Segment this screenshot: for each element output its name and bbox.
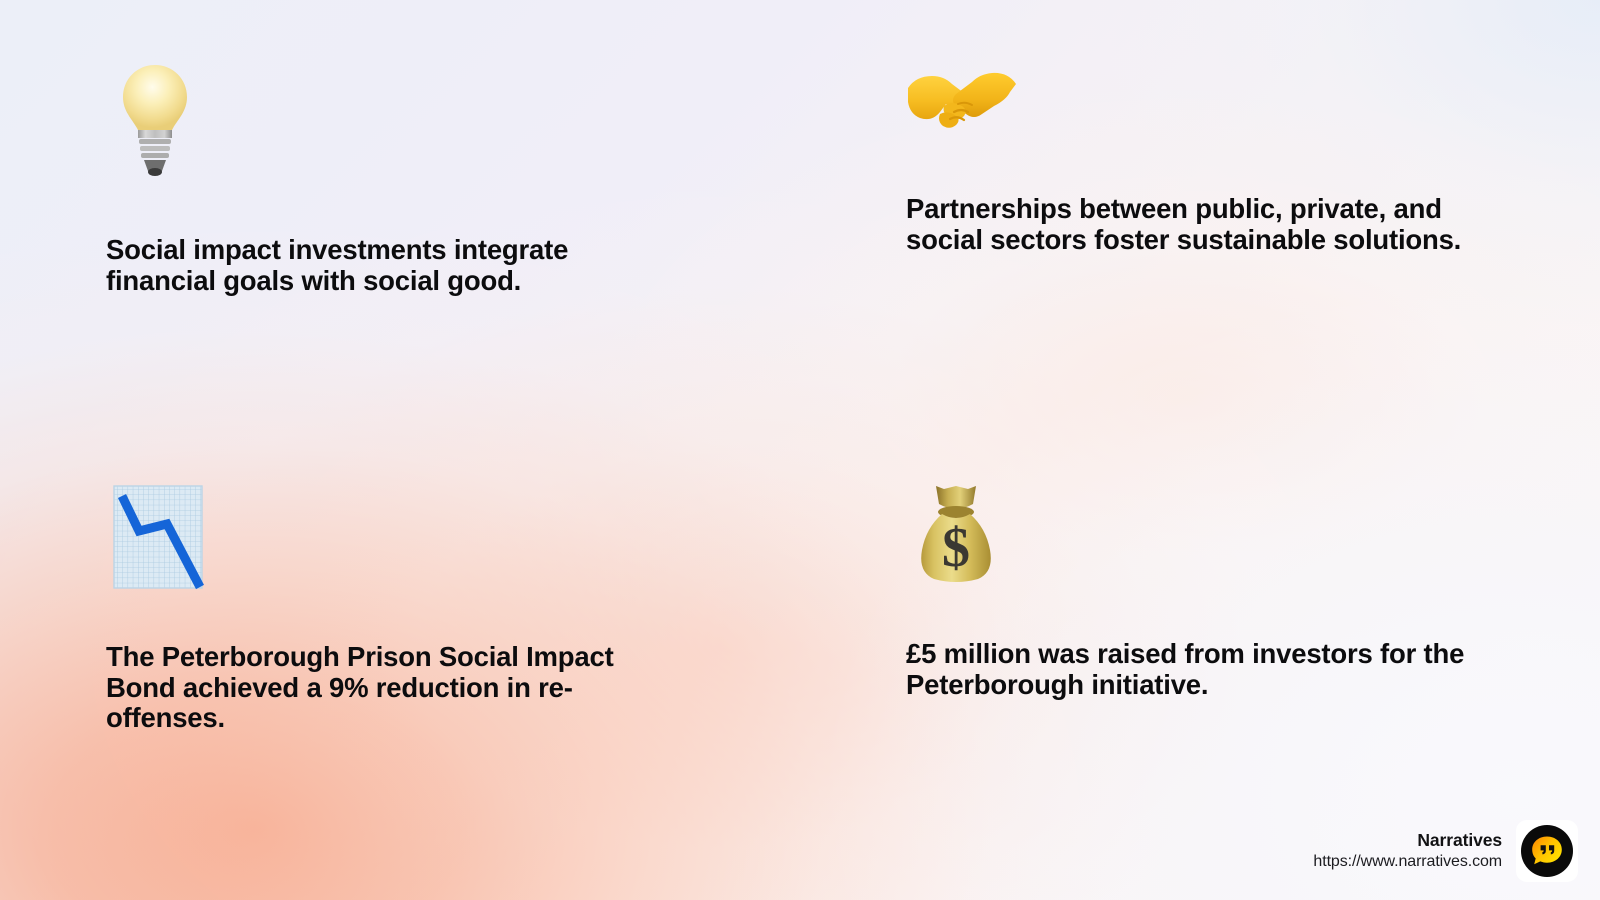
fact-card-text: £5 million was raised from investors for… xyxy=(906,639,1481,700)
fact-card-text: The Peterborough Prison Social Impact Bo… xyxy=(106,642,666,734)
brand-watermark[interactable]: Narratives https://www.narratives.com xyxy=(1313,820,1578,882)
speech-bubble-quote-icon xyxy=(1529,833,1565,869)
brand-url[interactable]: https://www.narratives.com xyxy=(1313,853,1502,872)
fact-card-grid: Social impact investments integrate fina… xyxy=(0,0,1600,900)
fact-card-social-impact: Social impact investments integrate fina… xyxy=(106,62,666,296)
money-bag-icon: $ xyxy=(914,484,1481,584)
fact-card-text: Partnerships between public, private, an… xyxy=(906,194,1476,255)
brand-logo-tile[interactable] xyxy=(1516,820,1578,882)
handshake-icon xyxy=(906,62,1476,132)
svg-text:$: $ xyxy=(942,517,970,579)
fact-card-partnerships: Partnerships between public, private, an… xyxy=(906,62,1476,255)
brand-name: Narratives xyxy=(1417,830,1502,851)
brand-logo-disc xyxy=(1521,825,1573,877)
chart-decreasing-icon xyxy=(112,484,666,590)
slide-canvas: Social impact investments integrate fina… xyxy=(0,0,1600,900)
fact-card-peterborough-outcome: The Peterborough Prison Social Impact Bo… xyxy=(106,484,666,734)
fact-card-funding-raised: $ £5 million was raised from investors f… xyxy=(906,484,1481,700)
brand-text-block: Narratives https://www.narratives.com xyxy=(1313,830,1502,873)
fact-card-text: Social impact investments integrate fina… xyxy=(106,235,666,296)
light-bulb-icon xyxy=(120,62,666,178)
